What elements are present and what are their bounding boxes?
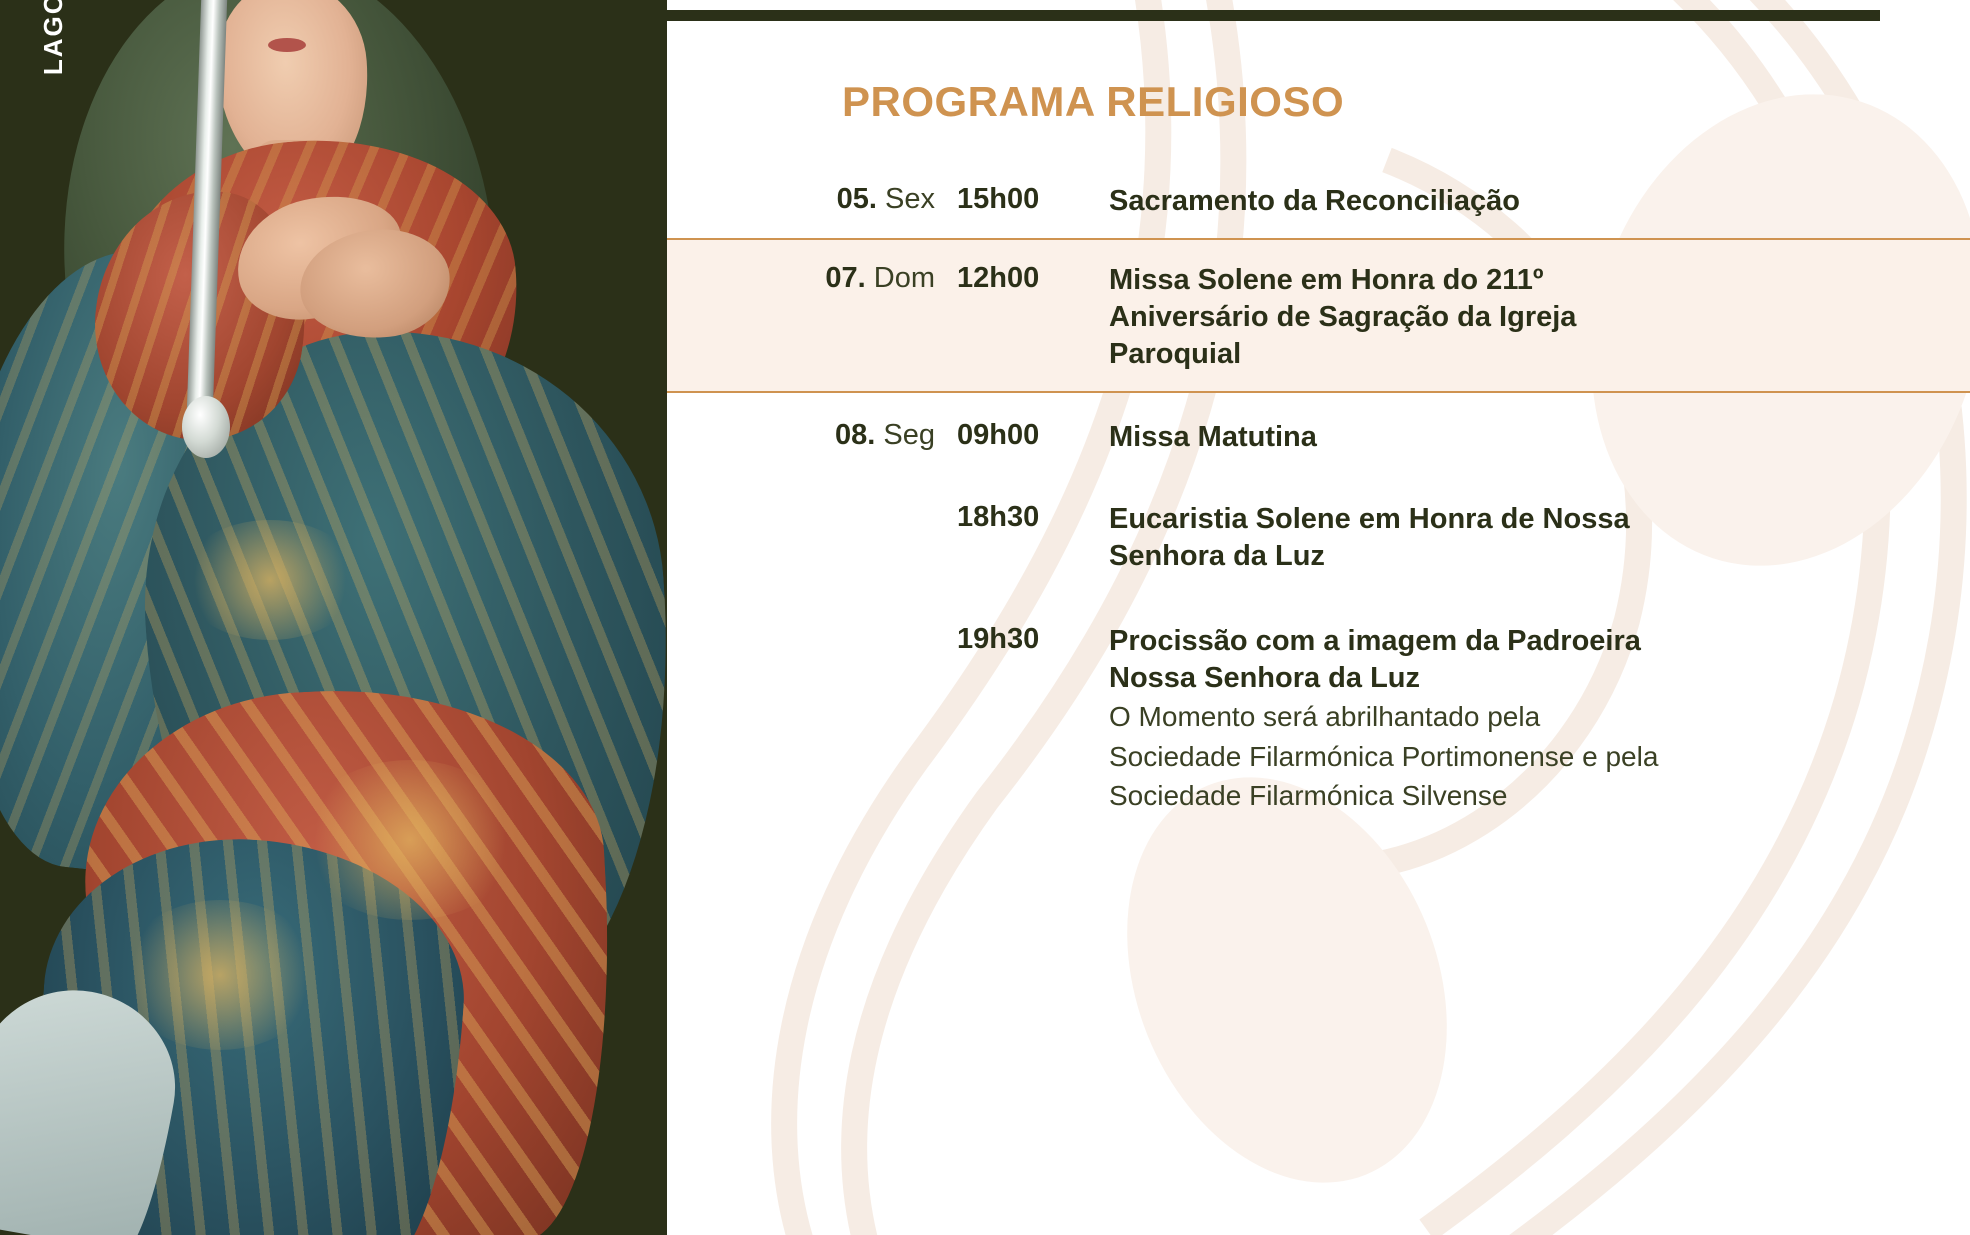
row-day-number: 05 bbox=[837, 183, 869, 215]
row-weekday: Sex bbox=[885, 183, 935, 215]
table-row: 05. Sex 15h00 Sacramento da Reconciliaçã… bbox=[667, 165, 1970, 238]
row-weekday: Seg bbox=[883, 419, 935, 451]
row-date bbox=[667, 623, 957, 816]
row-description: Missa Matutina bbox=[1109, 419, 1669, 456]
row-day-number: 08 bbox=[835, 419, 867, 451]
row-date: 07. Dom bbox=[667, 258, 957, 373]
row-description-note: O Momento será abrilhantado pela Socieda… bbox=[1109, 697, 1669, 816]
row-description-text: Procissão com a imagem da Padroeira Noss… bbox=[1109, 625, 1641, 694]
row-description-text: Sacramento da Reconciliação bbox=[1109, 185, 1520, 217]
row-day-number: 07 bbox=[825, 262, 857, 294]
our-lady-of-light-statue-illustration bbox=[0, 0, 667, 1235]
religious-program-poster: LAGO PROGRAMA RELIGIOSO 05. Sex bbox=[0, 0, 1970, 1235]
row-time: 15h00 bbox=[957, 183, 1109, 220]
table-row: 19h30 Procissão com a imagem da Padroeir… bbox=[667, 593, 1970, 834]
row-date bbox=[667, 501, 957, 575]
row-description: Procissão com a imagem da Padroeira Noss… bbox=[1109, 623, 1669, 816]
table-row: 18h30 Eucaristia Solene em Honra de Noss… bbox=[667, 475, 1970, 593]
row-time: 09h00 bbox=[957, 419, 1109, 456]
page-title: PROGRAMA RELIGIOSO bbox=[842, 78, 1344, 126]
row-description: Missa Solene em Honra do 211º Aniversári… bbox=[1109, 258, 1639, 373]
row-date-separator: . bbox=[867, 419, 875, 451]
table-row-highlighted: 07. Dom 12h00 Missa Solene em Honra do 2… bbox=[667, 238, 1970, 393]
row-date: 08. Seg bbox=[667, 419, 957, 456]
row-time: 18h30 bbox=[957, 501, 1109, 575]
row-description: Sacramento da Reconciliação bbox=[1109, 183, 1669, 220]
statue-image-panel: LAGO bbox=[0, 0, 667, 1235]
row-time: 12h00 bbox=[957, 258, 1109, 373]
header-divider-rule bbox=[667, 10, 1880, 21]
row-description-text: Missa Matutina bbox=[1109, 421, 1317, 453]
table-row: 08. Seg 09h00 Missa Matutina bbox=[667, 393, 1970, 474]
row-description-text: Missa Solene em Honra do 211º Aniversári… bbox=[1109, 264, 1576, 370]
schedule-table: 05. Sex 15h00 Sacramento da Reconciliaçã… bbox=[667, 165, 1970, 834]
program-content-panel: PROGRAMA RELIGIOSO 05. Sex 15h00 Sacrame… bbox=[667, 0, 1970, 1235]
row-description: Eucaristia Solene em Honra de Nossa Senh… bbox=[1109, 501, 1654, 575]
vertical-side-label: LAGO bbox=[38, 0, 69, 75]
row-time: 19h30 bbox=[957, 623, 1109, 816]
row-date-separator: . bbox=[869, 183, 877, 215]
row-date: 05. Sex bbox=[667, 183, 957, 220]
row-date-separator: . bbox=[858, 262, 866, 294]
row-weekday: Dom bbox=[874, 262, 935, 294]
row-description-text: Eucaristia Solene em Honra de Nossa Senh… bbox=[1109, 503, 1630, 572]
